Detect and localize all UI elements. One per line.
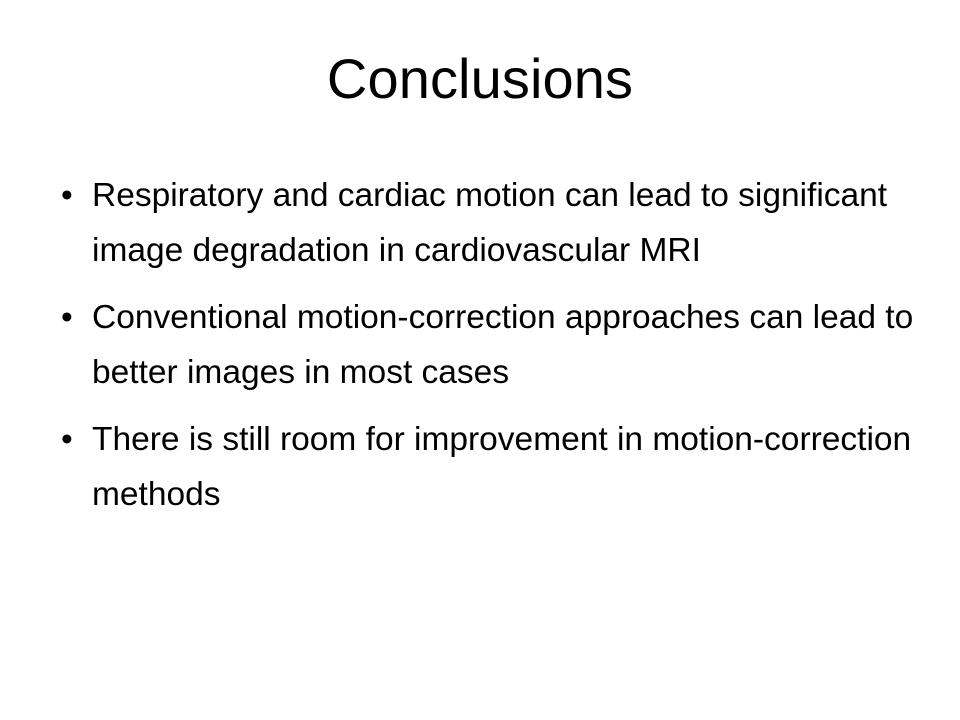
- bullet-point-icon: •: [61, 168, 83, 223]
- list-item: • Conventional motion-correction approac…: [50, 290, 920, 400]
- slide: Conclusions • Respiratory and cardiac mo…: [0, 0, 960, 720]
- bullet-point-icon: •: [61, 290, 83, 345]
- page-title: Conclusions: [0, 48, 960, 111]
- list-item-text: Respiratory and cardiac motion can lead …: [92, 168, 920, 278]
- bullet-list: • Respiratory and cardiac motion can lea…: [50, 168, 920, 522]
- bullet-point-icon: •: [61, 412, 83, 467]
- list-item-text: There is still room for improvement in m…: [92, 412, 920, 522]
- list-item: • Respiratory and cardiac motion can lea…: [50, 168, 920, 278]
- list-item: • There is still room for improvement in…: [50, 412, 920, 522]
- slide-body: • Respiratory and cardiac motion can lea…: [50, 168, 920, 522]
- list-item-text: Conventional motion-correction approache…: [92, 290, 920, 400]
